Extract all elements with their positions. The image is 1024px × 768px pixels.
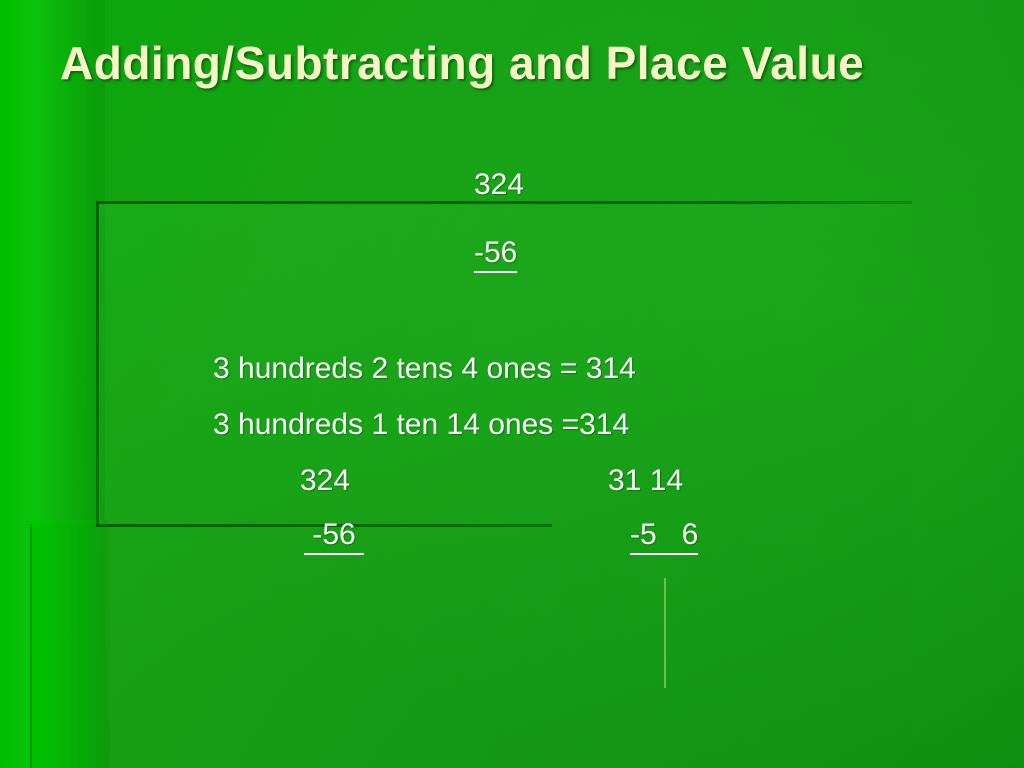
regroup-right-minuend: 31 14: [608, 464, 683, 498]
subtrahend-top: -56: [474, 236, 517, 273]
regroup-left-subtrahend: -56: [304, 518, 364, 555]
regroup-left-minuend: 324: [300, 464, 350, 498]
expanded-form-line-2: 3 hundreds 1 ten 14 ones =314: [213, 408, 629, 442]
page-title: Adding/Subtracting and Place Value: [60, 36, 960, 90]
slide: Adding/Subtracting and Place Value 324 -…: [0, 0, 1024, 768]
panel-left-divider: [96, 201, 99, 527]
vertical-accent-line: [664, 578, 666, 688]
minuend-top: 324: [474, 168, 524, 202]
expanded-form-line-1: 3 hundreds 2 tens 4 ones = 314: [213, 352, 636, 386]
content-panel: [96, 202, 912, 768]
panel-lower-block: [30, 524, 110, 768]
regroup-right-subtrahend: -5 6: [630, 518, 698, 555]
